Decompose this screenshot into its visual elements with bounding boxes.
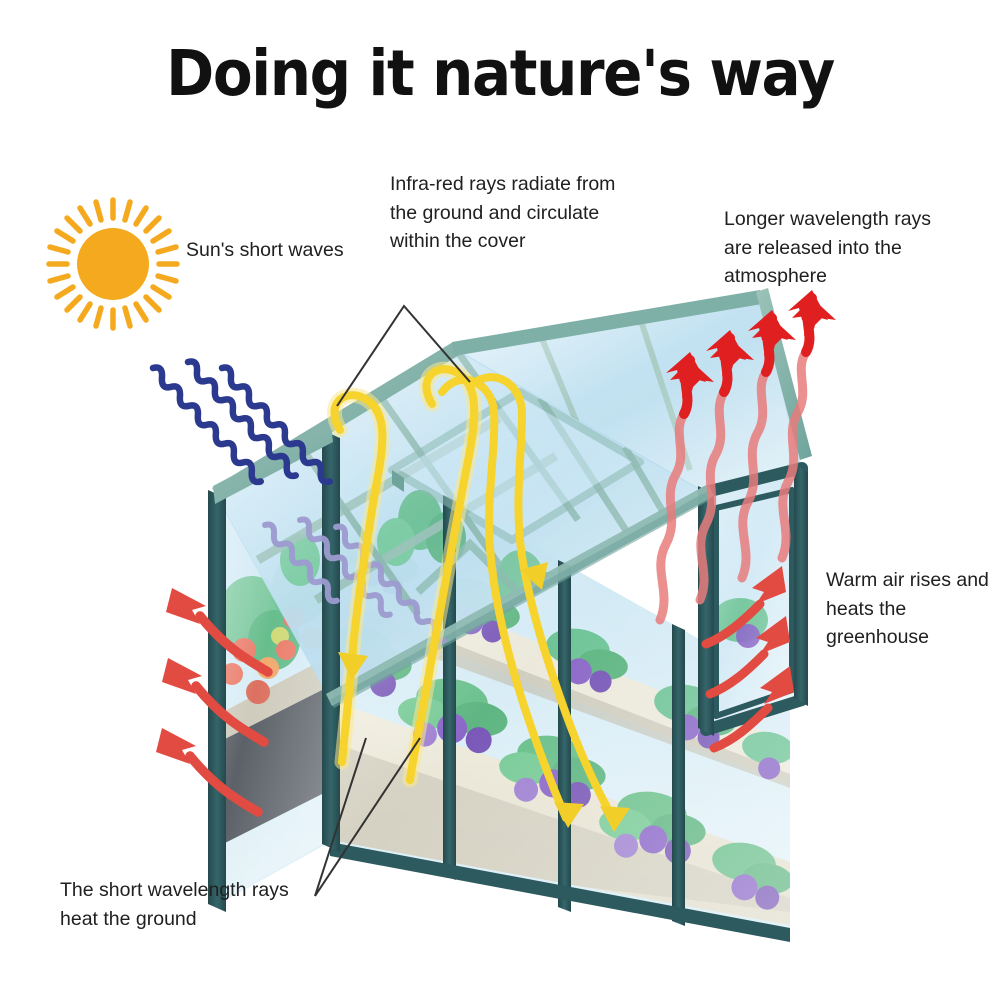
callout-sun-short-waves: Sun's short waves [186,236,346,265]
sun-icon [49,200,177,328]
callout-longer-wavelength-rays: Longer wavelength rays are released into… [724,205,959,291]
infographic-canvas: Doing it nature's way [0,0,1000,1000]
greenhouse-illustration [0,0,1000,1000]
callout-infrared-rays: Infra-red rays radiate from the ground a… [390,170,620,256]
callout-short-wavelength-ground: The short wavelength rays heat the groun… [60,876,310,933]
callout-warm-air-rises: Warm air rises and heats the greenhouse [826,566,996,652]
right-corner-post [794,464,808,706]
front-corner-post [322,430,340,852]
blue-squiggle-ray-icon [132,361,350,483]
